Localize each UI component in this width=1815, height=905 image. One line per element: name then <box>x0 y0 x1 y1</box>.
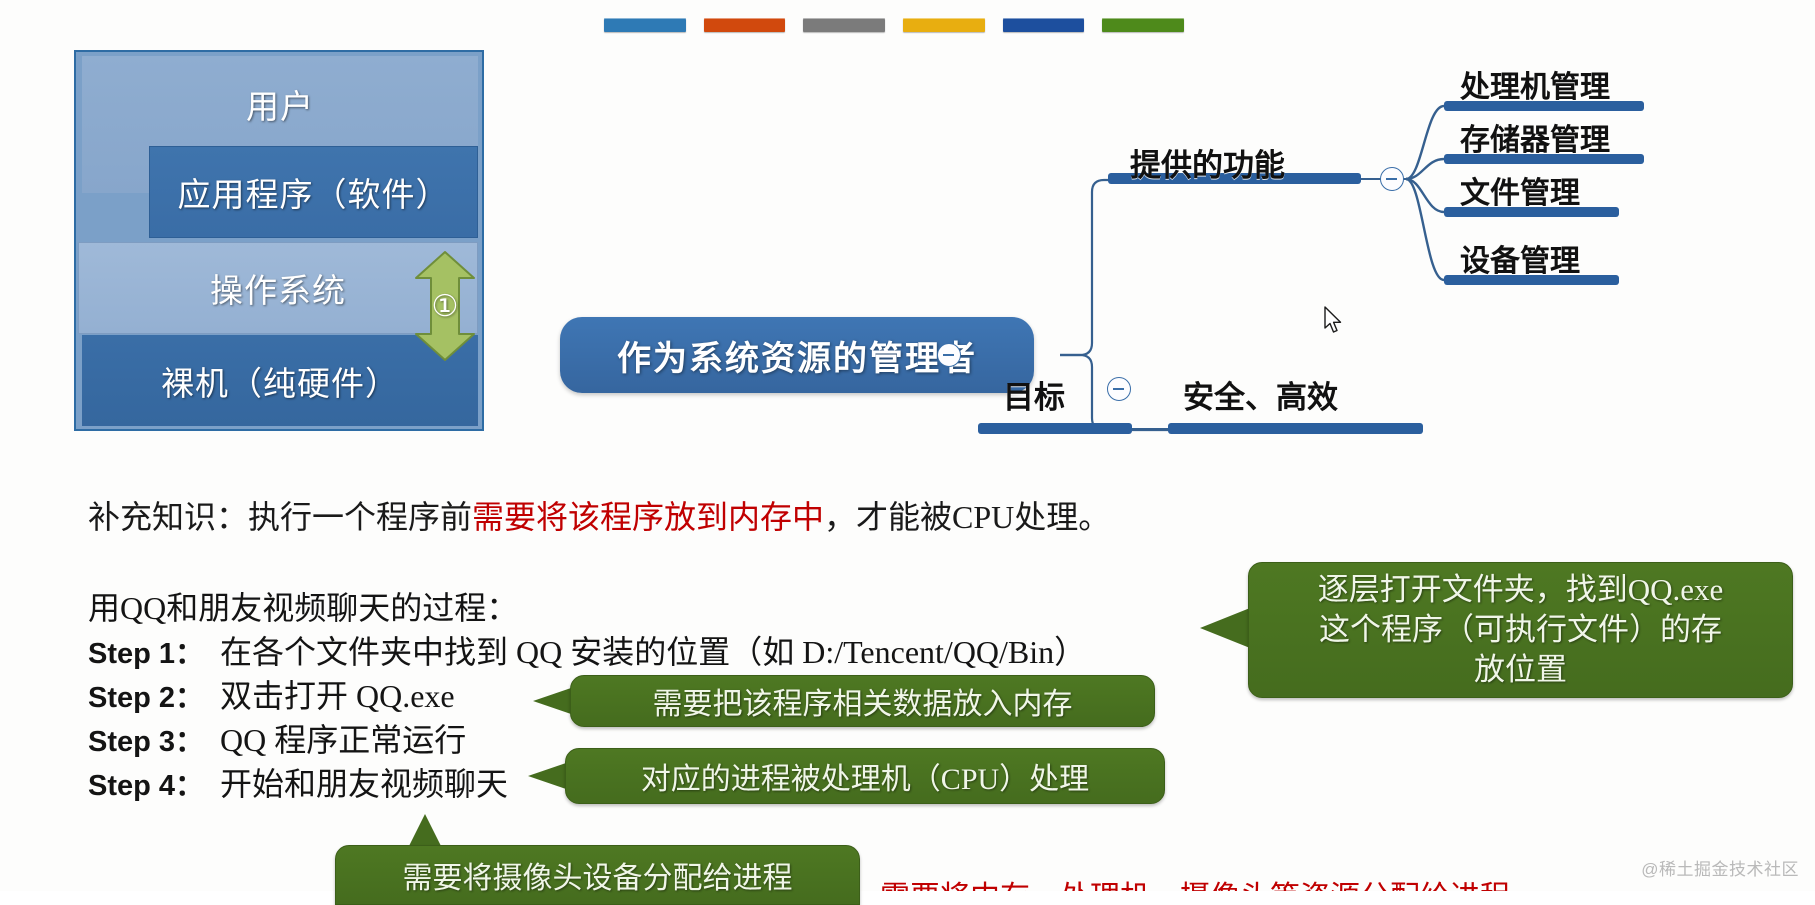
layer-bare-machine-label: 裸机（纯硬件） <box>161 357 399 405</box>
callout-process-by-cpu: 对应的进程被处理机（CPU）处理 <box>565 748 1165 804</box>
callout-process-by-cpu-label: 对应的进程被处理机（CPU）处理 <box>641 754 1089 798</box>
mouse-cursor-icon <box>1324 306 1344 334</box>
callout-allocate-camera: 需要将摄像头设备分配给进程 <box>335 845 860 905</box>
layer-user-label: 用户 <box>246 80 314 128</box>
step-4-text: 开始和朋友视频聊天 <box>220 759 508 805</box>
step-2-key: Step 2： <box>88 674 220 716</box>
top-color-strip <box>604 18 1184 38</box>
mindmap-branch-goal[interactable]: 目标 <box>1003 372 1065 417</box>
mindmap-branch-goal-label: 目标 <box>1003 380 1065 415</box>
supplement-suffix: ，才能被CPU处理。 <box>824 499 1110 535</box>
step-1-text: 在各个文件夹中找到 QQ 安装的位置（如 D:/Tencent/QQ/Bin） <box>220 627 1086 673</box>
mindmap-function-item-3-label: 设备管理 <box>1460 245 1580 278</box>
callout-locate-exe-line1: 逐层打开文件夹，找到QQ.exe <box>1318 570 1724 610</box>
callout-load-to-memory: 需要把该程序相关数据放入内存 <box>570 675 1155 727</box>
color-swatch-navy <box>1003 18 1085 32</box>
color-swatch-orange <box>704 18 786 32</box>
collapse-toggle-functions[interactable] <box>1380 167 1404 191</box>
supplement-prefix: 补充知识：执行一个程序前 <box>88 499 472 535</box>
callout-memory-tail <box>533 688 571 714</box>
color-swatch-blue <box>604 18 686 32</box>
callout-cpu-tail <box>528 763 566 789</box>
color-swatch-green <box>1102 18 1184 32</box>
callout-big-tail <box>1200 608 1250 648</box>
collapse-toggle-root[interactable] <box>937 343 961 367</box>
qq-process-heading: 用QQ和朋友视频聊天的过程： <box>88 583 518 629</box>
supplement-knowledge-line: 补充知识：执行一个程序前需要将该程序放到内存中，才能被CPU处理。 <box>88 492 1110 538</box>
mindmap-function-item-1-label: 存储器管理 <box>1460 124 1610 157</box>
step-3-text: QQ 程序正常运行 <box>220 715 466 761</box>
color-swatch-gray <box>803 18 885 32</box>
mindmap-function-item-0[interactable]: 处理机管理 <box>1460 62 1610 106</box>
collapse-toggle-goal[interactable] <box>1107 377 1131 401</box>
color-swatch-gold <box>903 18 985 32</box>
mindmap-branch-functions-label: 提供的功能 <box>1130 148 1285 183</box>
bottom-red-note: 需要将内存、处理机、摄像头等资源分配给进程 <box>880 872 1510 891</box>
mindmap-function-item-3[interactable]: 设备管理 <box>1460 236 1580 280</box>
callout-locate-exe-line3: 放位置 <box>1474 650 1567 690</box>
callout-allocate-camera-label: 需要将摄像头设备分配给进程 <box>403 853 793 897</box>
watermark-label: @稀土掘金技术社区 <box>1641 860 1799 879</box>
mindmap: 作为系统资源的管理者 提供的功能 目标 安全、高效 处理机管理 存储器管理 文件… <box>560 40 1740 440</box>
callout-locate-exe: 逐层打开文件夹，找到QQ.exe 这个程序（可执行文件）的存 放位置 <box>1248 562 1793 698</box>
layer-operating-system-label: 操作系统 <box>210 264 346 312</box>
supplement-highlight: 需要将该程序放到内存中 <box>472 499 824 535</box>
layer-application: 应用程序（软件） <box>149 146 478 238</box>
step-1-key: Step 1： <box>88 630 220 672</box>
callout-load-to-memory-label: 需要把该程序相关数据放入内存 <box>653 679 1073 723</box>
mindmap-function-item-2-label: 文件管理 <box>1460 177 1580 210</box>
up-down-arrow-icon: ① <box>412 250 478 362</box>
step-3-key: Step 3： <box>88 718 220 760</box>
mindmap-branch-functions[interactable]: 提供的功能 <box>1130 140 1285 185</box>
mindmap-goal-value[interactable]: 安全、高效 <box>1183 372 1338 417</box>
mindmap-function-item-0-label: 处理机管理 <box>1460 71 1610 104</box>
layer-application-label: 应用程序（软件） <box>178 168 450 216</box>
step-4-key: Step 4： <box>88 762 220 804</box>
step-2-text: 双击打开 QQ.exe <box>220 671 455 717</box>
callout-camera-tail <box>408 814 442 848</box>
mindmap-function-item-2[interactable]: 文件管理 <box>1460 168 1580 212</box>
mindmap-root-label: 作为系统资源的管理者 <box>617 331 977 380</box>
qq-process-heading-label: 用QQ和朋友视频聊天的过程： <box>88 590 518 626</box>
callout-locate-exe-line2: 这个程序（可执行文件）的存 <box>1319 610 1722 650</box>
list-item: Step 1： 在各个文件夹中找到 QQ 安装的位置（如 D:/Tencent/… <box>88 627 1086 671</box>
mindmap-root-node[interactable]: 作为系统资源的管理者 <box>560 317 1034 393</box>
mindmap-function-item-1[interactable]: 存储器管理 <box>1460 115 1610 159</box>
mindmap-goal-value-label: 安全、高效 <box>1183 380 1338 415</box>
layered-architecture-diagram: 用户 应用程序（软件） 操作系统 裸机（纯硬件） ① <box>74 50 484 431</box>
bottom-red-note-label: 需要将内存、处理机、摄像头等资源分配给进程 <box>880 881 1510 891</box>
watermark: @稀土掘金技术社区 <box>1641 855 1799 880</box>
